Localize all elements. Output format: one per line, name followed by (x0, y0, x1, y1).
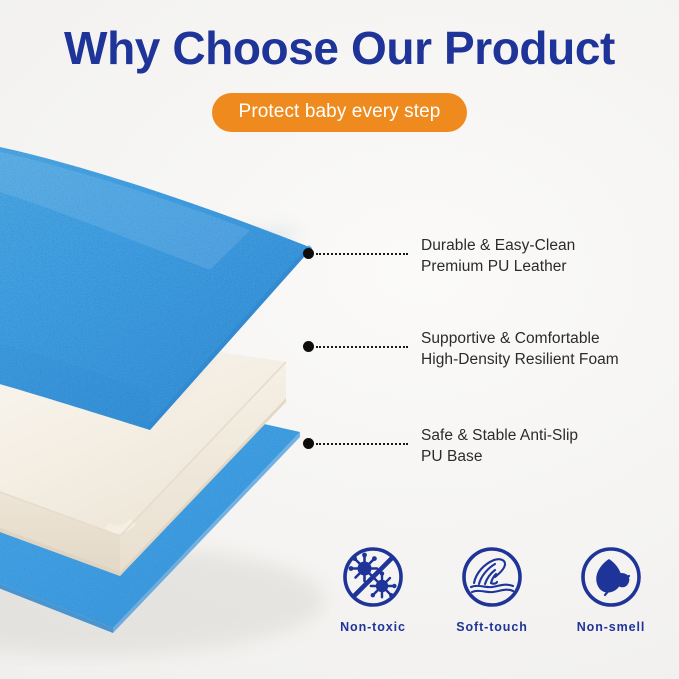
feature-non-toxic: Non-toxic (318, 543, 428, 634)
layer-foam-core (0, 310, 286, 576)
feature-soft-touch: Soft-touch (437, 543, 547, 634)
callout-dot-icon (303, 341, 314, 352)
leaf-icon (577, 543, 645, 611)
feature-badges: Non-toxic (318, 543, 666, 634)
callout-leader-line (316, 346, 408, 348)
layer-base-sheet (0, 352, 300, 633)
callout-leader-line (316, 253, 408, 255)
virus-slash-icon (339, 543, 407, 611)
callout-dot-icon (303, 248, 314, 259)
callout-line-1: Supportive & Comfortable (421, 330, 600, 347)
callout-line-1: Safe & Stable Anti-Slip (421, 427, 578, 444)
feature-non-smell: Non-smell (556, 543, 666, 634)
hand-touch-icon (458, 543, 526, 611)
callout-dot-icon (303, 438, 314, 449)
callout-line-2: Premium PU Leather (421, 256, 575, 277)
feature-label: Soft-touch (437, 620, 547, 634)
page-title: Why Choose Our Product (0, 22, 679, 74)
subtitle-badge: Protect baby every step (212, 93, 468, 132)
feature-label: Non-toxic (318, 620, 428, 634)
layer-top-sheet (0, 136, 312, 430)
callout-line-2: High-Density Resilient Foam (421, 349, 619, 370)
infographic-page: Why Choose Our Product Protect baby ever… (0, 0, 679, 679)
callout-line-1: Durable & Easy-Clean (421, 237, 575, 254)
feature-label: Non-smell (556, 620, 666, 634)
subtitle-badge-container: Protect baby every step (0, 93, 679, 132)
callout-text: Durable & Easy-Clean Premium PU Leather (421, 235, 575, 277)
callout-text: Supportive & Comfortable High-Density Re… (421, 328, 619, 370)
callout-text: Safe & Stable Anti-Slip PU Base (421, 425, 578, 467)
callout-leader-line (316, 443, 408, 445)
callout-line-2: PU Base (421, 446, 578, 467)
